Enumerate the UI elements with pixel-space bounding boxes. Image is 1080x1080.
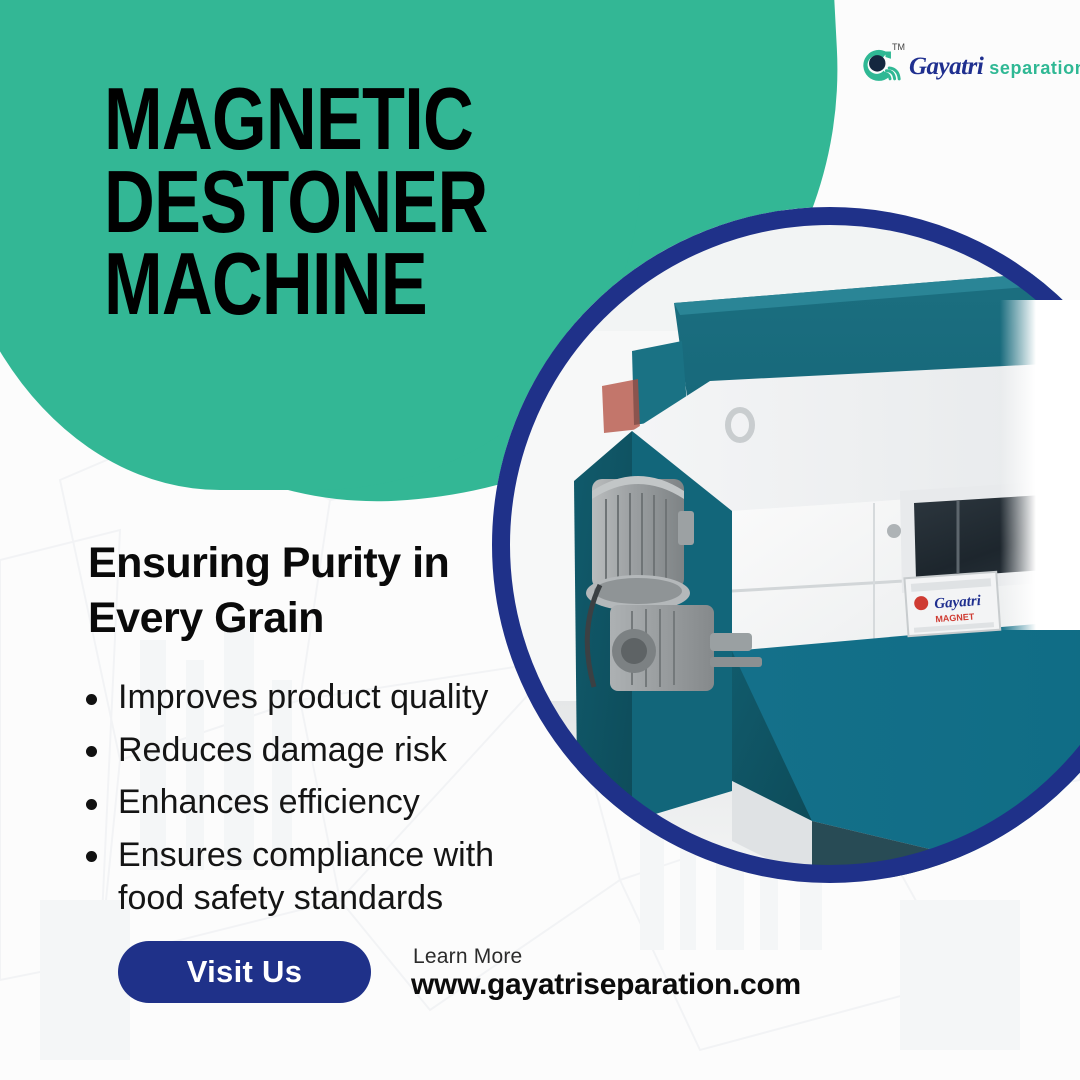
logo-secondary-text: separation: [989, 58, 1080, 79]
visit-us-button[interactable]: Visit Us: [118, 941, 371, 1003]
product-photo-circle: Gayatri MAGNET: [492, 207, 1080, 883]
logo-wordmark: Gayatri separation: [909, 53, 1080, 81]
bullet-dot-icon: [86, 851, 97, 862]
list-item-label: Ensures compliance with food safety stan…: [118, 836, 494, 918]
list-item-label: Reduces damage risk: [118, 731, 447, 769]
list-item: Ensures compliance with food safety stan…: [74, 834, 544, 921]
svg-text:Gayatri: Gayatri: [934, 593, 982, 612]
page-title: Magnetic Destoner Machine: [104, 78, 487, 326]
headline-line-1: Magnetic: [104, 78, 487, 161]
headline-line-2: Destoner: [104, 161, 487, 244]
list-item: Improves product quality: [74, 676, 544, 720]
list-item-label: Improves product quality: [118, 678, 488, 716]
poster-canvas: Gayatri MAGNET: [0, 0, 1080, 1080]
magnetic-destoner-machine-photo: Gayatri MAGNET: [492, 207, 1080, 883]
website-url-link[interactable]: www.gayatriseparation.com: [411, 968, 801, 1002]
subheading: Ensuring Purity in Every Grain: [88, 536, 518, 645]
logo-primary-text: Gayatri: [909, 53, 983, 81]
bullet-dot-icon: [86, 799, 97, 810]
benefits-list: Improves product quality Reduces damage …: [74, 676, 544, 930]
subheading-line-1: Ensuring Purity in: [88, 539, 449, 587]
bullet-dot-icon: [86, 746, 97, 757]
learn-more-label: Learn More: [413, 945, 522, 969]
list-item: Reduces damage risk: [74, 729, 544, 773]
gayatri-swoosh-icon: TM: [858, 46, 902, 88]
trademark-label: TM: [892, 42, 905, 52]
subheading-line-2: Every Grain: [88, 594, 324, 642]
bullet-dot-icon: [86, 694, 97, 705]
headline-line-3: Machine: [104, 243, 487, 326]
brand-logo[interactable]: TM Gayatri separation: [858, 44, 1080, 90]
list-item: Enhances efficiency: [74, 781, 544, 825]
list-item-label: Enhances efficiency: [118, 783, 420, 821]
ring-right-fade-mask: [1000, 300, 1080, 630]
